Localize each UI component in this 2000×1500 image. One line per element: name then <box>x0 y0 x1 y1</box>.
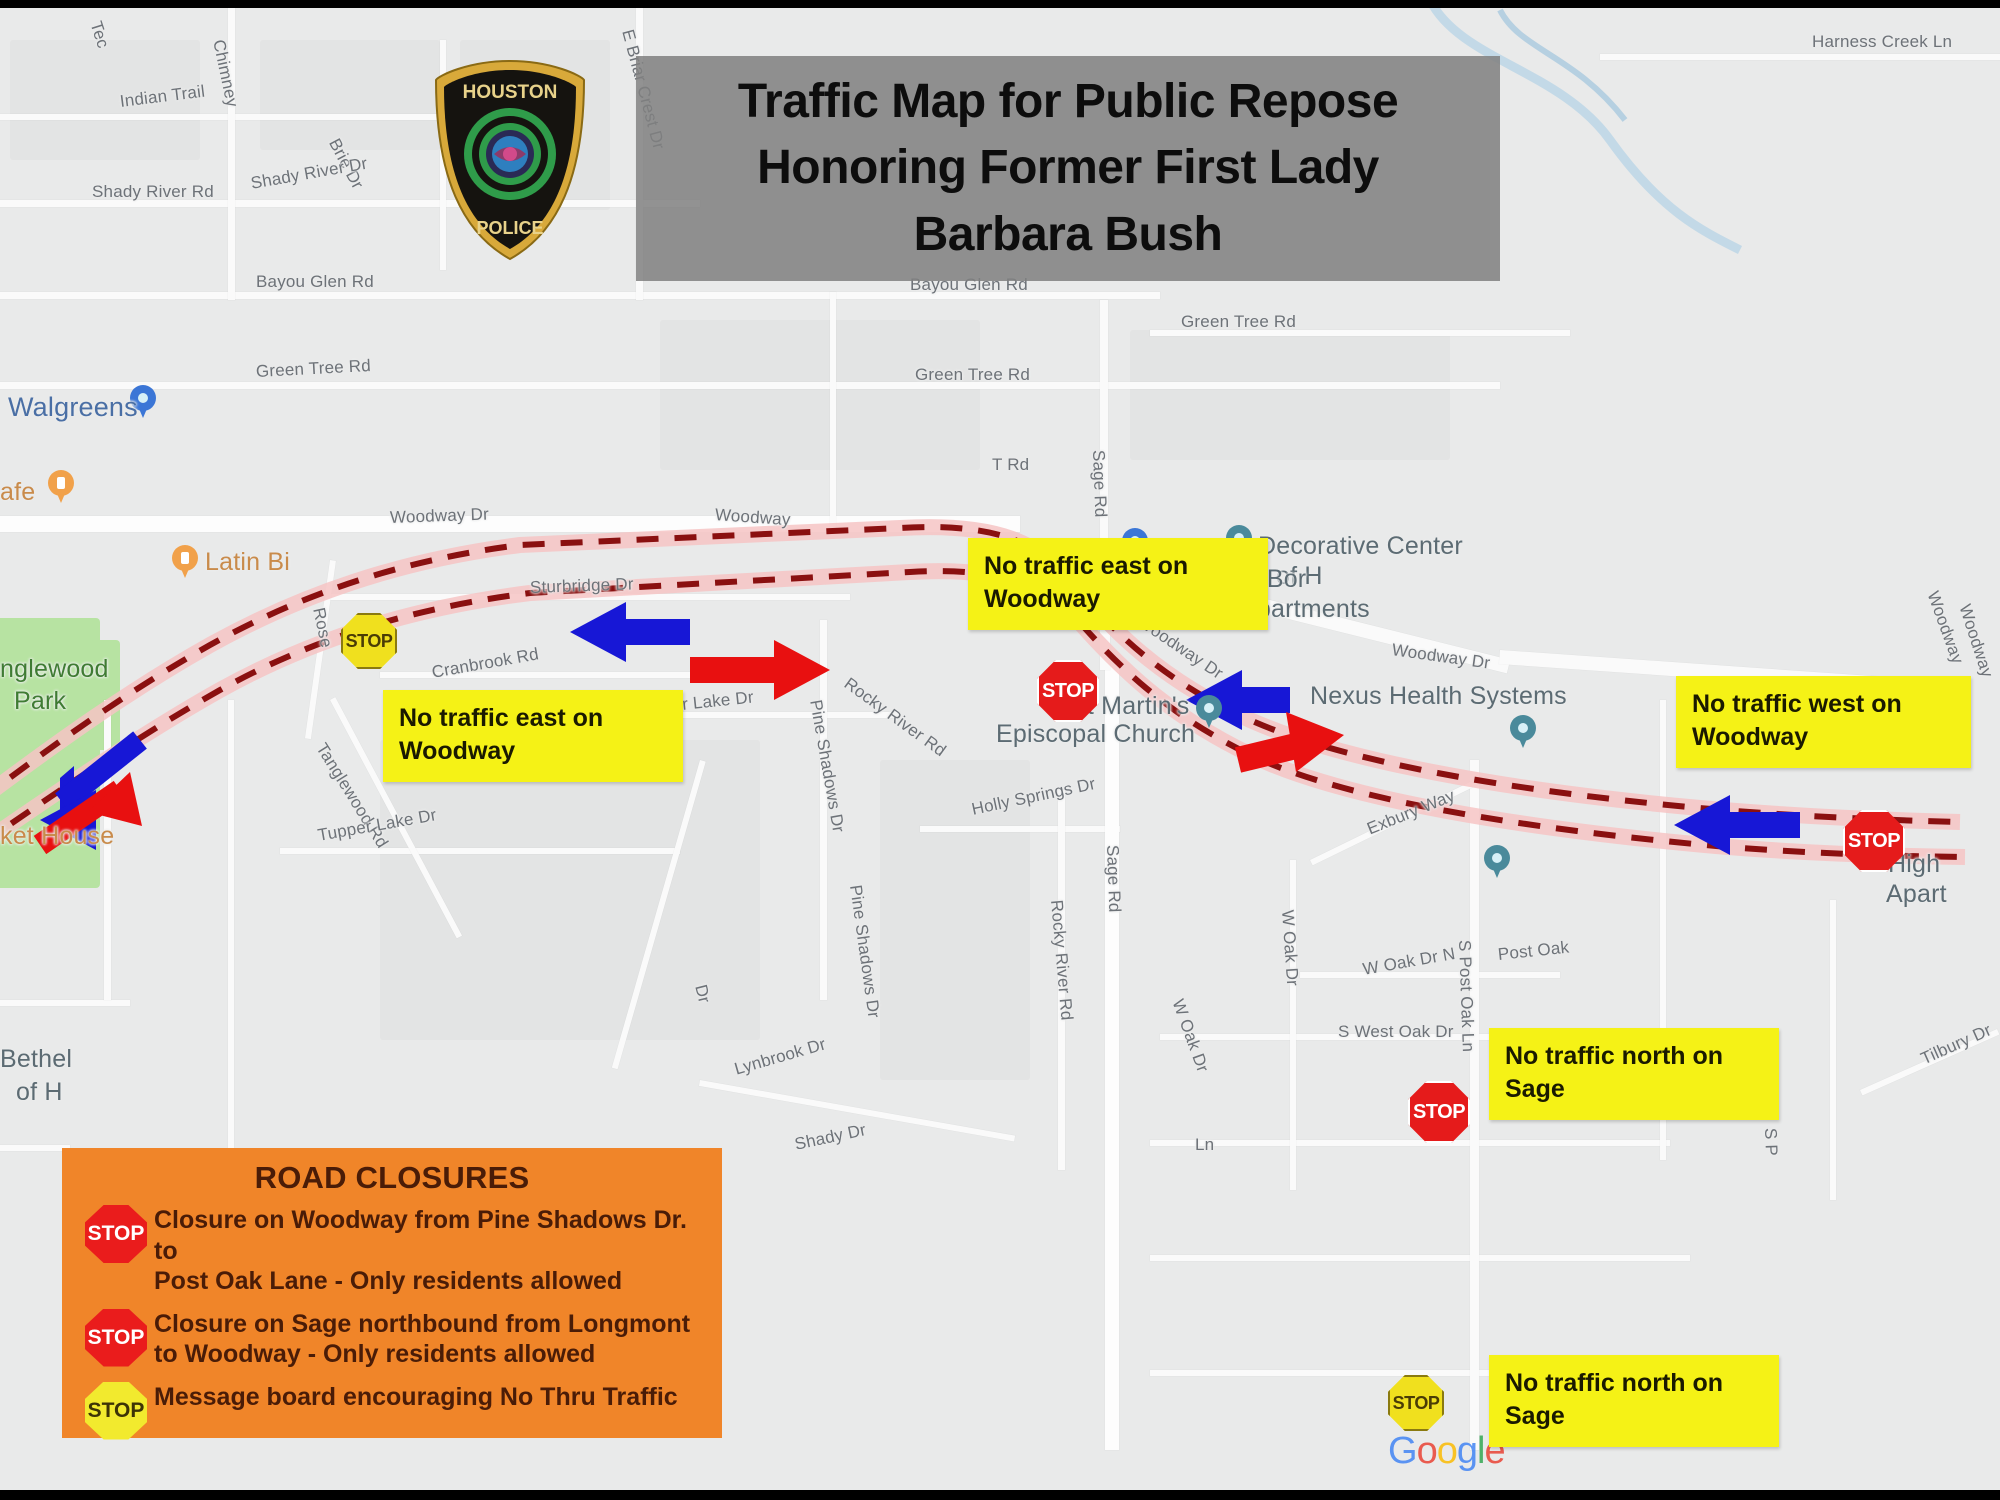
legend-sign-slot: STOP <box>78 1307 154 1367</box>
legend-stop-sign-yellow-icon: STOP <box>85 1382 147 1440</box>
stop-sage-mid-icon: STOP <box>1408 1081 1470 1143</box>
houston-police-badge-icon: HOUSTON POLICE <box>432 58 588 263</box>
block <box>660 320 980 470</box>
title-line-3: Barbara Bush <box>914 202 1223 268</box>
stop-woodway-west-icon: STOP <box>341 613 397 669</box>
legend-item-line: Closure on Sage northbound from Longmont <box>154 1309 690 1340</box>
stop-sign-label: STOP <box>1408 1081 1470 1143</box>
legend-item: STOPMessage board encouraging No Thru Tr… <box>78 1380 706 1440</box>
road-rose <box>305 560 336 739</box>
poi-label[interactable]: nglewood <box>0 655 109 684</box>
road-vertical-mid-2 <box>830 292 836 532</box>
letterbox-bottom <box>0 1490 2000 1500</box>
road-tupper-lake-dr-2 <box>280 848 680 854</box>
poi-label[interactable]: Park <box>14 687 66 716</box>
block <box>260 40 440 150</box>
legend-item-line: Closure on Woodway from Pine Shadows Dr.… <box>154 1205 706 1266</box>
legend-item: STOPClosure on Woodway from Pine Shadows… <box>78 1203 706 1297</box>
poi-label[interactable]: Latin Bi <box>205 548 290 577</box>
callout-line: No traffic east on <box>399 702 669 735</box>
road-bottom-2 <box>1150 1255 1690 1261</box>
callout-woodway-east-1: No traffic east onWoodway <box>968 538 1268 630</box>
road-harness-creek <box>1600 54 2000 60</box>
map-screenshot: Harness Creek LnIndian TrailChimneyTecBr… <box>0 0 2000 1500</box>
poi-label[interactable]: Nexus Health Systems <box>1310 682 1567 711</box>
callout-line: Woodway <box>984 583 1254 616</box>
legend-stop-sign-red-icon: STOP <box>85 1309 147 1367</box>
stop-sign-label: STOP <box>1037 660 1099 722</box>
legend-title: ROAD CLOSURES <box>78 1160 706 1196</box>
stop-sign-label: STOP <box>1843 810 1905 872</box>
legend-sign-slot: STOP <box>78 1380 154 1440</box>
poi-label[interactable]: ket House <box>0 822 114 851</box>
road-w-oak-dr-n <box>1300 972 1560 978</box>
road-vertical-right-3 <box>1830 900 1836 1200</box>
street-label: Shady River Rd <box>92 182 214 202</box>
callout-woodway-east-2: No traffic east onWoodway <box>383 690 683 782</box>
street-label: Harness Creek Ln <box>1812 32 1952 52</box>
legend-sign-slot: STOP <box>78 1203 154 1263</box>
poi-label[interactable]: Bethel <box>0 1045 72 1074</box>
callout-line: Sage <box>1505 1400 1765 1433</box>
legend-item-line: Post Oak Lane - Only residents allowed <box>154 1266 706 1297</box>
callout-line: No traffic north on <box>1505 1367 1765 1400</box>
road-s-post-oak-ln <box>1470 760 1479 1450</box>
legend-item: STOPClosure on Sage northbound from Long… <box>78 1307 706 1370</box>
badge-top-text: HOUSTON <box>463 82 558 103</box>
block <box>1130 330 1450 460</box>
street-label: S Post Oak Ln <box>1454 940 1478 1053</box>
restaurant-pin-cafe[interactable] <box>48 470 74 504</box>
street-label: Ln <box>1195 1135 1214 1155</box>
poi-label[interactable]: Episcopal Church <box>996 720 1195 749</box>
street-label: T Rd <box>992 455 1029 475</box>
street-label: Green Tree Rd <box>915 365 1030 385</box>
callout-line: Woodway <box>399 735 669 768</box>
street-label: Sturbridge Dr <box>530 574 634 598</box>
stop-woodway-east-icon: STOP <box>1843 810 1905 872</box>
road-left-bottom-1 <box>0 1000 130 1006</box>
legend-item-line: to Woodway - Only residents allowed <box>154 1339 690 1370</box>
road-holly-springs-dr <box>920 826 1120 832</box>
road-sage-rd <box>1105 660 1119 1450</box>
restaurant-pin-latin[interactable] <box>172 545 198 579</box>
street-label: Sage Rd <box>1088 450 1110 518</box>
legend-item-line: Message board encouraging No Thru Traffi… <box>154 1382 678 1413</box>
stop-sign-label: STOP <box>1388 1375 1444 1431</box>
poi-label[interactable]: Apart <box>1886 880 1947 909</box>
church-pin[interactable] <box>1196 695 1222 729</box>
poi-label[interactable]: Walgreens <box>8 392 138 423</box>
callout-sage-north-1: No traffic north onSage <box>1489 1028 1779 1120</box>
road-left-bottom-2 <box>0 1145 70 1151</box>
callout-woodway-west-1: No traffic west onWoodway <box>1676 676 1971 768</box>
legend-stop-sign-red-icon: STOP <box>85 1205 147 1263</box>
road-green-tree-rd <box>0 382 1500 389</box>
title-line-2: Honoring Former First Lady <box>757 135 1379 201</box>
legend-item-text: Closure on Woodway from Pine Shadows Dr.… <box>154 1203 706 1297</box>
badge-bottom-text: POLICE <box>476 218 543 238</box>
legend-item-text: Message board encouraging No Thru Traffi… <box>154 1380 678 1413</box>
street-label: S West Oak Dr <box>1338 1022 1454 1042</box>
stop-sage-south-icon: STOP <box>1388 1375 1444 1431</box>
poi-label[interactable]: Decorative Center <box>1258 532 1463 561</box>
letterbox-top <box>0 0 2000 8</box>
road-closures-legend: ROAD CLOSURES STOPClosure on Woodway fro… <box>62 1148 722 1438</box>
poi-pin-right[interactable] <box>1510 715 1536 749</box>
street-label: Green Tree Rd <box>1181 312 1296 332</box>
callout-line: Woodway <box>1692 721 1957 754</box>
road-woodway-dr <box>0 516 1020 532</box>
legend-rows: STOPClosure on Woodway from Pine Shadows… <box>78 1203 706 1440</box>
poi-label[interactable]: afe <box>0 478 35 507</box>
google-attribution-logo: Google <box>1388 1430 1505 1473</box>
callout-sage-north-2: No traffic north onSage <box>1489 1355 1779 1447</box>
road-bottom-1 <box>1150 1140 1670 1146</box>
legend-item-text: Closure on Sage northbound from Longmont… <box>154 1307 690 1370</box>
callout-line: No traffic east on <box>984 550 1254 583</box>
stop-sign-label: STOP <box>341 613 397 669</box>
title-line-1: Traffic Map for Public Repose <box>738 69 1398 135</box>
poi-label[interactable]: of H <box>16 1078 63 1107</box>
high-apartments-pin[interactable] <box>1484 845 1510 879</box>
street-label: Sage Rd <box>1102 845 1124 913</box>
street-label: S P <box>1760 1128 1781 1157</box>
road-vertical-left <box>228 700 234 1180</box>
callout-line: No traffic west on <box>1692 688 1957 721</box>
callout-line: Sage <box>1505 1073 1765 1106</box>
stop-woodway-mid-icon: STOP <box>1037 660 1099 722</box>
title-banner: Traffic Map for Public Repose Honoring F… <box>636 56 1500 281</box>
street-label: Bayou Glen Rd <box>256 272 374 292</box>
street-label: Woodway Dr <box>390 505 490 528</box>
callout-line: No traffic north on <box>1505 1040 1765 1073</box>
